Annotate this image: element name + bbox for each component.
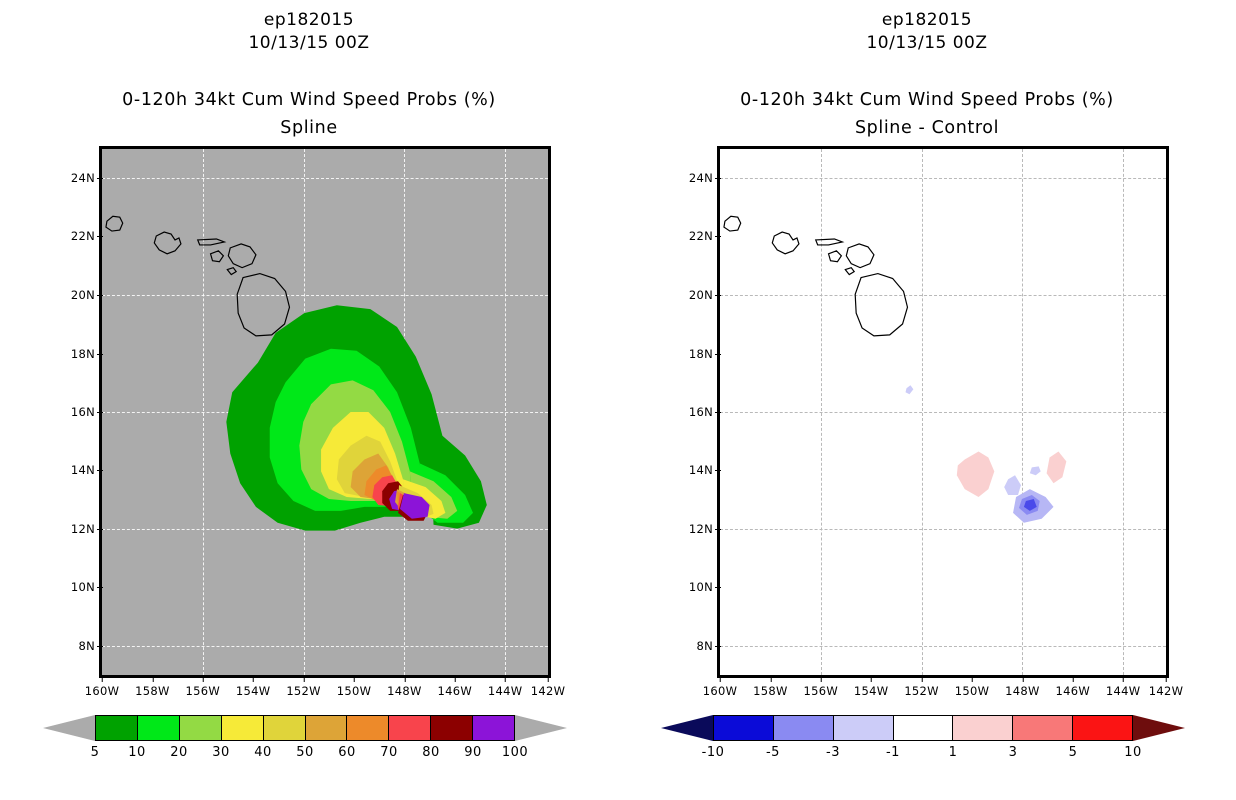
probability-colorbar[interactable]: 5 10 20 30 40 50 60 70 80 90 100 [95, 715, 515, 741]
xtick-160w: 160W [85, 684, 120, 698]
ytick-22n: 22N [71, 229, 95, 243]
storm-id-left: ep182015 [0, 10, 618, 30]
ytick-16n-right: 16N [689, 405, 713, 419]
ytick-14n-right: 14N [689, 463, 713, 477]
swatch-5-10 [96, 716, 137, 740]
xtick-154w: 154W [236, 684, 271, 698]
swatch-80-90 [430, 716, 472, 740]
cblabel-neg5: -5 [766, 745, 780, 760]
xtick-160w-right: 160W [703, 684, 738, 698]
swatch-70-80 [388, 716, 430, 740]
colorbar-high-arrow-left [515, 715, 567, 741]
chart-title-right: 0-120h 34kt Cum Wind Speed Probs (%) [618, 90, 1236, 110]
xtick-154w-right: 154W [854, 684, 889, 698]
ytick-14n: 14N [71, 463, 95, 477]
ytick-20n: 20N [71, 288, 95, 302]
xtick-156w: 156W [186, 684, 221, 698]
colorbar-swatches-right [713, 715, 1133, 741]
ytick-12n: 12N [71, 522, 95, 536]
swatch-90-100 [472, 716, 514, 740]
swatch-10-20 [137, 716, 179, 740]
ytick-8n-right: 8N [696, 639, 713, 653]
swatch-40-50 [263, 716, 305, 740]
swatch-60-70 [346, 716, 388, 740]
map-axes-spline[interactable]: 24N 22N 20N 18N 16N 14N 12N 10N 8N 160W … [99, 146, 551, 678]
colorbar-low-arrow-right [661, 715, 713, 741]
hawaii-coastline-left [102, 149, 548, 675]
swatch-neg1-1 [893, 716, 953, 740]
cblabel-60: 60 [338, 745, 356, 760]
xtick-158w-right: 158W [753, 684, 788, 698]
xtick-158w: 158W [135, 684, 170, 698]
swatch-50-60 [305, 716, 347, 740]
colorbar-low-arrow-left [43, 715, 95, 741]
xtick-150w-right: 150W [955, 684, 990, 698]
ytick-24n: 24N [71, 171, 95, 185]
cblabel-30: 30 [212, 745, 230, 760]
ytick-24n-right: 24N [689, 171, 713, 185]
swatch-neg5-neg3 [773, 716, 833, 740]
xtick-152w-right: 152W [904, 684, 939, 698]
cblabel-1: 1 [949, 745, 958, 760]
map-plot-area-left [102, 149, 548, 675]
cblabel-3: 3 [1009, 745, 1018, 760]
xtick-156w-right: 156W [804, 684, 839, 698]
cblabel-neg10: -10 [702, 745, 725, 760]
cblabel-5: 5 [91, 745, 100, 760]
ytick-18n-right: 18N [689, 347, 713, 361]
swatch-neg10-neg5 [714, 716, 773, 740]
cblabel-10: 10 [128, 745, 146, 760]
cblabel-20: 20 [170, 745, 188, 760]
cblabel-70: 70 [380, 745, 398, 760]
cblabel-80: 80 [422, 745, 440, 760]
anomaly-colorbar[interactable]: -10 -5 -3 -1 1 3 5 10 [713, 715, 1133, 741]
figure-root: ep182015 10/13/15 00Z 0-120h 34kt Cum Wi… [0, 0, 1236, 800]
xtick-150w: 150W [337, 684, 372, 698]
cblabel-50: 50 [296, 745, 314, 760]
xtick-142w: 142W [531, 684, 566, 698]
ytick-10n-right: 10N [689, 580, 713, 594]
ytick-18n: 18N [71, 347, 95, 361]
cblabel-neg1: -1 [886, 745, 900, 760]
storm-id-right: ep182015 [618, 10, 1236, 30]
colorbar-swatches-left [95, 715, 515, 741]
ytick-20n-right: 20N [689, 288, 713, 302]
swatch-5-10 [1072, 716, 1132, 740]
swatch-neg3-neg1 [833, 716, 893, 740]
xtick-146w-right: 146W [1056, 684, 1091, 698]
cblabel-90: 90 [464, 745, 482, 760]
cblabel-40: 40 [254, 745, 272, 760]
chart-subtitle-left: Spline [0, 118, 618, 138]
xtick-152w: 152W [286, 684, 321, 698]
hawaii-coastline-right [720, 149, 1166, 675]
xtick-148w-right: 148W [1005, 684, 1040, 698]
swatch-30-40 [221, 716, 263, 740]
ytick-16n: 16N [71, 405, 95, 419]
chart-title-left: 0-120h 34kt Cum Wind Speed Probs (%) [0, 90, 618, 110]
colorbar-high-arrow-right [1133, 715, 1185, 741]
xtick-142w-right: 142W [1149, 684, 1184, 698]
ytick-22n-right: 22N [689, 229, 713, 243]
cblabel-100: 100 [502, 745, 528, 760]
cblabel-10: 10 [1124, 745, 1142, 760]
xtick-148w: 148W [387, 684, 422, 698]
swatch-3-5 [1012, 716, 1072, 740]
panel-spline: ep182015 10/13/15 00Z 0-120h 34kt Cum Wi… [0, 0, 618, 800]
cblabel-5: 5 [1069, 745, 1078, 760]
swatch-20-30 [179, 716, 221, 740]
ytick-10n: 10N [71, 580, 95, 594]
xtick-144w: 144W [488, 684, 523, 698]
ytick-12n-right: 12N [689, 522, 713, 536]
panel-spline-minus-control: ep182015 10/13/15 00Z 0-120h 34kt Cum Wi… [618, 0, 1236, 800]
date-label-right: 10/13/15 00Z [618, 33, 1236, 53]
ytick-8n: 8N [78, 639, 95, 653]
map-plot-area-right [720, 149, 1166, 675]
map-axes-difference[interactable]: 24N 22N 20N 18N 16N 14N 12N 10N 8N 160W … [717, 146, 1169, 678]
chart-subtitle-right: Spline - Control [618, 118, 1236, 138]
xtick-144w-right: 144W [1106, 684, 1141, 698]
xtick-146w: 146W [438, 684, 473, 698]
date-label-left: 10/13/15 00Z [0, 33, 618, 53]
cblabel-neg3: -3 [826, 745, 840, 760]
swatch-1-3 [952, 716, 1012, 740]
